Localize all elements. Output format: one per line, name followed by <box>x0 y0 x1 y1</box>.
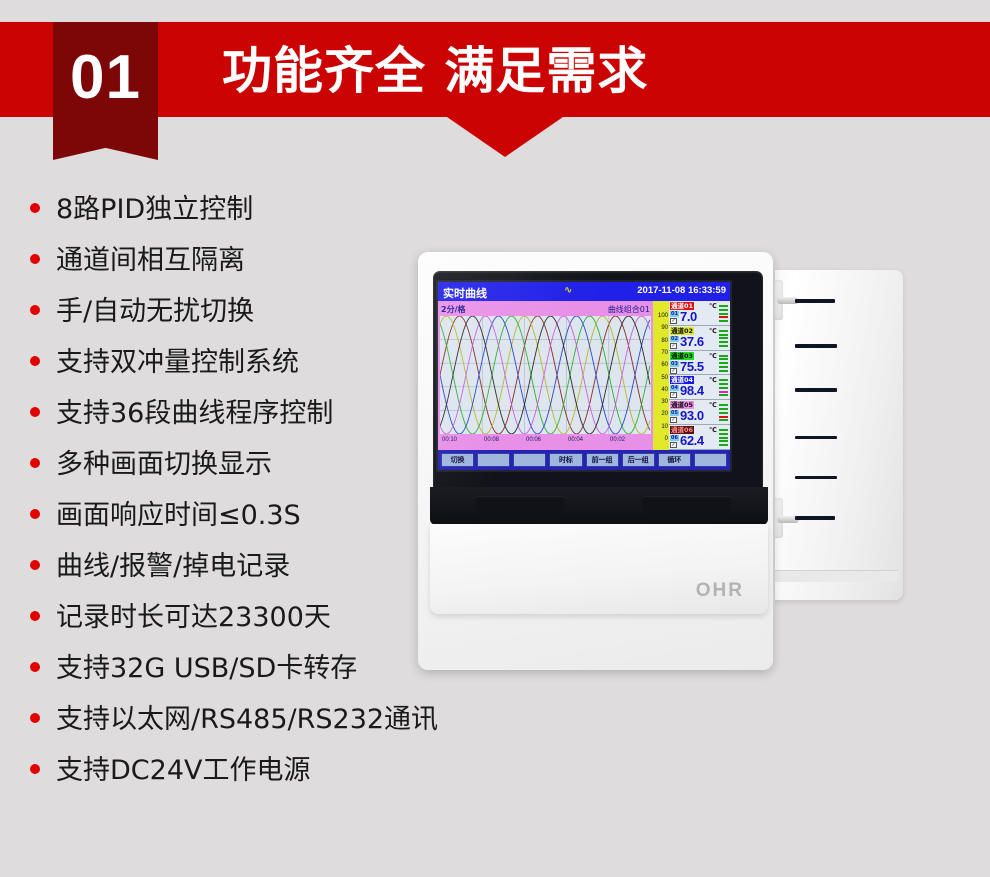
x-axis-tick-label: 00:04 <box>568 437 583 443</box>
section-number-text: 01 <box>53 22 158 132</box>
channel-row[interactable]: 通道01℃01✓7.0 <box>669 301 730 326</box>
channel-row[interactable]: 通道06℃06✓62.4 <box>669 425 730 450</box>
plot-time-axis: 00:1000:0800:0600:0400:02 <box>440 437 651 447</box>
feature-list-item: 曲线/报警/掉电记录 <box>30 553 460 604</box>
feature-list-item: 8路PID独立控制 <box>30 196 460 247</box>
feature-list-item: 支持36段曲线程序控制 <box>30 400 460 451</box>
feature-list-item-label: 8路PID独立控制 <box>56 196 253 223</box>
channel-value: 93.0 <box>680 408 704 423</box>
device-lower-body: OHR <box>430 524 768 614</box>
bullet-dot-icon <box>30 458 40 468</box>
bullet-dot-icon <box>30 203 40 213</box>
device-control-strip <box>430 487 768 525</box>
channel-bargraph-icon <box>719 379 728 396</box>
y-axis-tick-label: 90 <box>661 325 668 331</box>
bullet-dot-icon <box>30 305 40 315</box>
y-axis-tick-label: 100 <box>658 313 668 319</box>
feature-list-item: 支持以太网/RS485/RS232通讯 <box>30 706 460 757</box>
channel-index-badge: 02 <box>670 336 679 342</box>
x-axis-tick-label: 00:10 <box>442 437 457 443</box>
y-axis-tick-label: 60 <box>661 362 668 368</box>
y-axis-tick-label: 20 <box>661 411 668 417</box>
device-rear-base <box>758 570 898 582</box>
feature-list-item: 画面响应时间≤0.3S <box>30 502 460 553</box>
y-axis-tick-label: 30 <box>661 399 668 405</box>
feature-list-item-label: 手/自动无扰切换 <box>56 298 254 325</box>
x-axis-tick-label: 00:08 <box>484 437 499 443</box>
channel-unit-label: ℃ <box>709 426 717 434</box>
channel-bargraph-icon <box>719 305 728 322</box>
waveform-logo-icon: ∿ <box>564 285 572 296</box>
vent-slot <box>795 476 837 479</box>
channel-enable-checkbox[interactable]: ✓ <box>670 343 677 349</box>
channel-row[interactable]: 通道03℃03✓75.5 <box>669 351 730 376</box>
y-axis-tick-label: 40 <box>661 387 668 393</box>
screen-button-empty-1[interactable] <box>477 453 510 467</box>
plot-area[interactable]: 2分/格 曲线组合01 00:1000:0800:0600:0400:02 <box>438 301 653 450</box>
bullet-dot-icon <box>30 713 40 723</box>
feature-list-item: 支持DC24V工作电源 <box>30 757 460 808</box>
feature-list-item-label: 记录时长可达23300天 <box>56 604 331 631</box>
feature-list: 8路PID独立控制通道间相互隔离手/自动无扰切换支持双冲量控制系统支持36段曲线… <box>30 196 460 808</box>
channel-value: 7.0 <box>680 309 697 324</box>
plot-group-label: 曲线组合01 <box>608 304 650 315</box>
channel-unit-label: ℃ <box>709 376 717 384</box>
channel-bargraph-icon <box>719 330 728 347</box>
feature-list-item-label: 曲线/报警/掉电记录 <box>56 553 290 580</box>
feature-list-item-label: 画面响应时间≤0.3S <box>56 502 301 529</box>
feature-list-item: 支持32G USB/SD卡转存 <box>30 655 460 706</box>
screen-button-0[interactable]: 切换 <box>441 453 474 467</box>
bullet-dot-icon <box>30 356 40 366</box>
channel-index-badge: 03 <box>670 361 679 367</box>
y-axis-tick-label: 70 <box>661 350 668 356</box>
channel-bargraph-icon <box>719 404 728 421</box>
trend-chart-svg <box>440 316 651 434</box>
feature-list-item-label: 支持以太网/RS485/RS232通讯 <box>56 706 438 733</box>
channel-enable-checkbox[interactable]: ✓ <box>670 392 677 398</box>
channel-unit-label: ℃ <box>709 401 717 409</box>
channel-enable-checkbox[interactable]: ✓ <box>670 318 677 324</box>
bullet-dot-icon <box>30 254 40 264</box>
channel-row[interactable]: 通道02℃02✓37.6 <box>669 326 730 351</box>
banner-notch-triangle <box>447 117 563 157</box>
y-axis-tick-label: 80 <box>661 338 668 344</box>
bullet-dot-icon <box>30 662 40 672</box>
lcd-screen-housing: 实时曲线 ∿ 2017-11-08 16:33:59 2分/格 曲线组合01 0… <box>436 280 732 472</box>
channel-panel: 通道01℃01✓7.0通道02℃02✓37.6通道03℃03✓75.5通道04℃… <box>669 301 730 450</box>
feature-list-item-label: 多种画面切换显示 <box>56 451 272 478</box>
screen-button-6[interactable]: 循环 <box>658 453 691 467</box>
channel-value: 75.5 <box>680 359 704 374</box>
bullet-dot-icon <box>30 560 40 570</box>
plot-timescale-label: 2分/格 <box>441 304 466 315</box>
channel-index-badge: 06 <box>670 435 679 441</box>
feature-list-item: 记录时长可达23300天 <box>30 604 460 655</box>
y-axis-scale: 1009080706050403020100 <box>653 301 669 450</box>
channel-value: 37.6 <box>680 334 704 349</box>
x-axis-tick-label: 00:02 <box>610 437 625 443</box>
channel-unit-label: ℃ <box>709 327 717 335</box>
channel-index-badge: 05 <box>670 410 679 416</box>
feature-list-item: 多种画面切换显示 <box>30 451 460 502</box>
feature-list-item: 手/自动无扰切换 <box>30 298 460 349</box>
lcd-screen[interactable]: 实时曲线 ∿ 2017-11-08 16:33:59 2分/格 曲线组合01 0… <box>438 282 730 470</box>
channel-index-badge: 04 <box>670 385 679 391</box>
brand-logo: OHR <box>696 580 744 602</box>
screen-button-4[interactable]: 前一组 <box>586 453 619 467</box>
screen-button-5[interactable]: 后一组 <box>622 453 655 467</box>
channel-enable-checkbox[interactable]: ✓ <box>670 368 677 374</box>
screen-datetime: 2017-11-08 16:33:59 <box>637 285 726 296</box>
vent-slot <box>795 516 835 520</box>
feature-list-item-label: 支持DC24V工作电源 <box>56 757 310 784</box>
vent-slot <box>795 299 835 303</box>
screen-button-empty-2[interactable] <box>513 453 546 467</box>
channel-value: 98.4 <box>680 383 704 398</box>
channel-index-badge: 01 <box>670 311 679 317</box>
screen-button-empty-7[interactable] <box>694 453 727 467</box>
feature-list-item: 支持双冲量控制系统 <box>30 349 460 400</box>
device-illustration: 实时曲线 ∿ 2017-11-08 16:33:59 2分/格 曲线组合01 0… <box>418 252 990 682</box>
bullet-dot-icon <box>30 407 40 417</box>
x-axis-tick-label: 00:06 <box>526 437 541 443</box>
bullet-dot-icon <box>30 611 40 621</box>
channel-row[interactable]: 通道05℃05✓93.0 <box>669 400 730 425</box>
channel-bargraph-icon <box>719 355 728 372</box>
channel-enable-checkbox[interactable]: ✓ <box>670 417 677 423</box>
bullet-dot-icon <box>30 764 40 774</box>
channel-unit-label: ℃ <box>709 302 717 310</box>
vent-slot <box>795 388 837 392</box>
vent-slot <box>795 344 837 348</box>
bullet-dot-icon <box>30 509 40 519</box>
channel-enable-checkbox[interactable]: ✓ <box>670 442 677 448</box>
plot-grid <box>440 316 651 434</box>
screen-button-3[interactable]: 时标 <box>549 453 582 467</box>
feature-list-item: 通道间相互隔离 <box>30 247 460 298</box>
feature-list-item-label: 支持双冲量控制系统 <box>56 349 299 376</box>
channel-value: 62.4 <box>680 433 704 448</box>
page-root: 01 功能齐全 满足需求 8路PID独立控制通道间相互隔离手/自动无扰切换支持双… <box>0 0 990 877</box>
feature-list-item-label: 支持36段曲线程序控制 <box>56 400 333 427</box>
page-title: 功能齐全 满足需求 <box>222 31 648 103</box>
channel-bargraph-icon <box>719 429 728 446</box>
y-axis-tick-label: 0 <box>665 436 668 442</box>
y-axis-tick-label: 10 <box>661 424 668 430</box>
screen-button-bar: 切换时标前一组后一组循环 <box>438 450 730 470</box>
control-pad-right[interactable] <box>642 496 732 516</box>
control-pad-left[interactable] <box>475 496 565 516</box>
section-number-badge-ribbon-tail <box>53 128 158 160</box>
vent-slot <box>795 436 837 439</box>
feature-list-item-label: 通道间相互隔离 <box>56 247 245 274</box>
y-axis-tick-label: 50 <box>661 375 668 381</box>
channel-unit-label: ℃ <box>709 352 717 360</box>
feature-list-item-label: 支持32G USB/SD卡转存 <box>56 655 357 682</box>
screen-title: 实时曲线 <box>443 285 487 301</box>
channel-row[interactable]: 通道04℃04✓98.4 <box>669 375 730 400</box>
